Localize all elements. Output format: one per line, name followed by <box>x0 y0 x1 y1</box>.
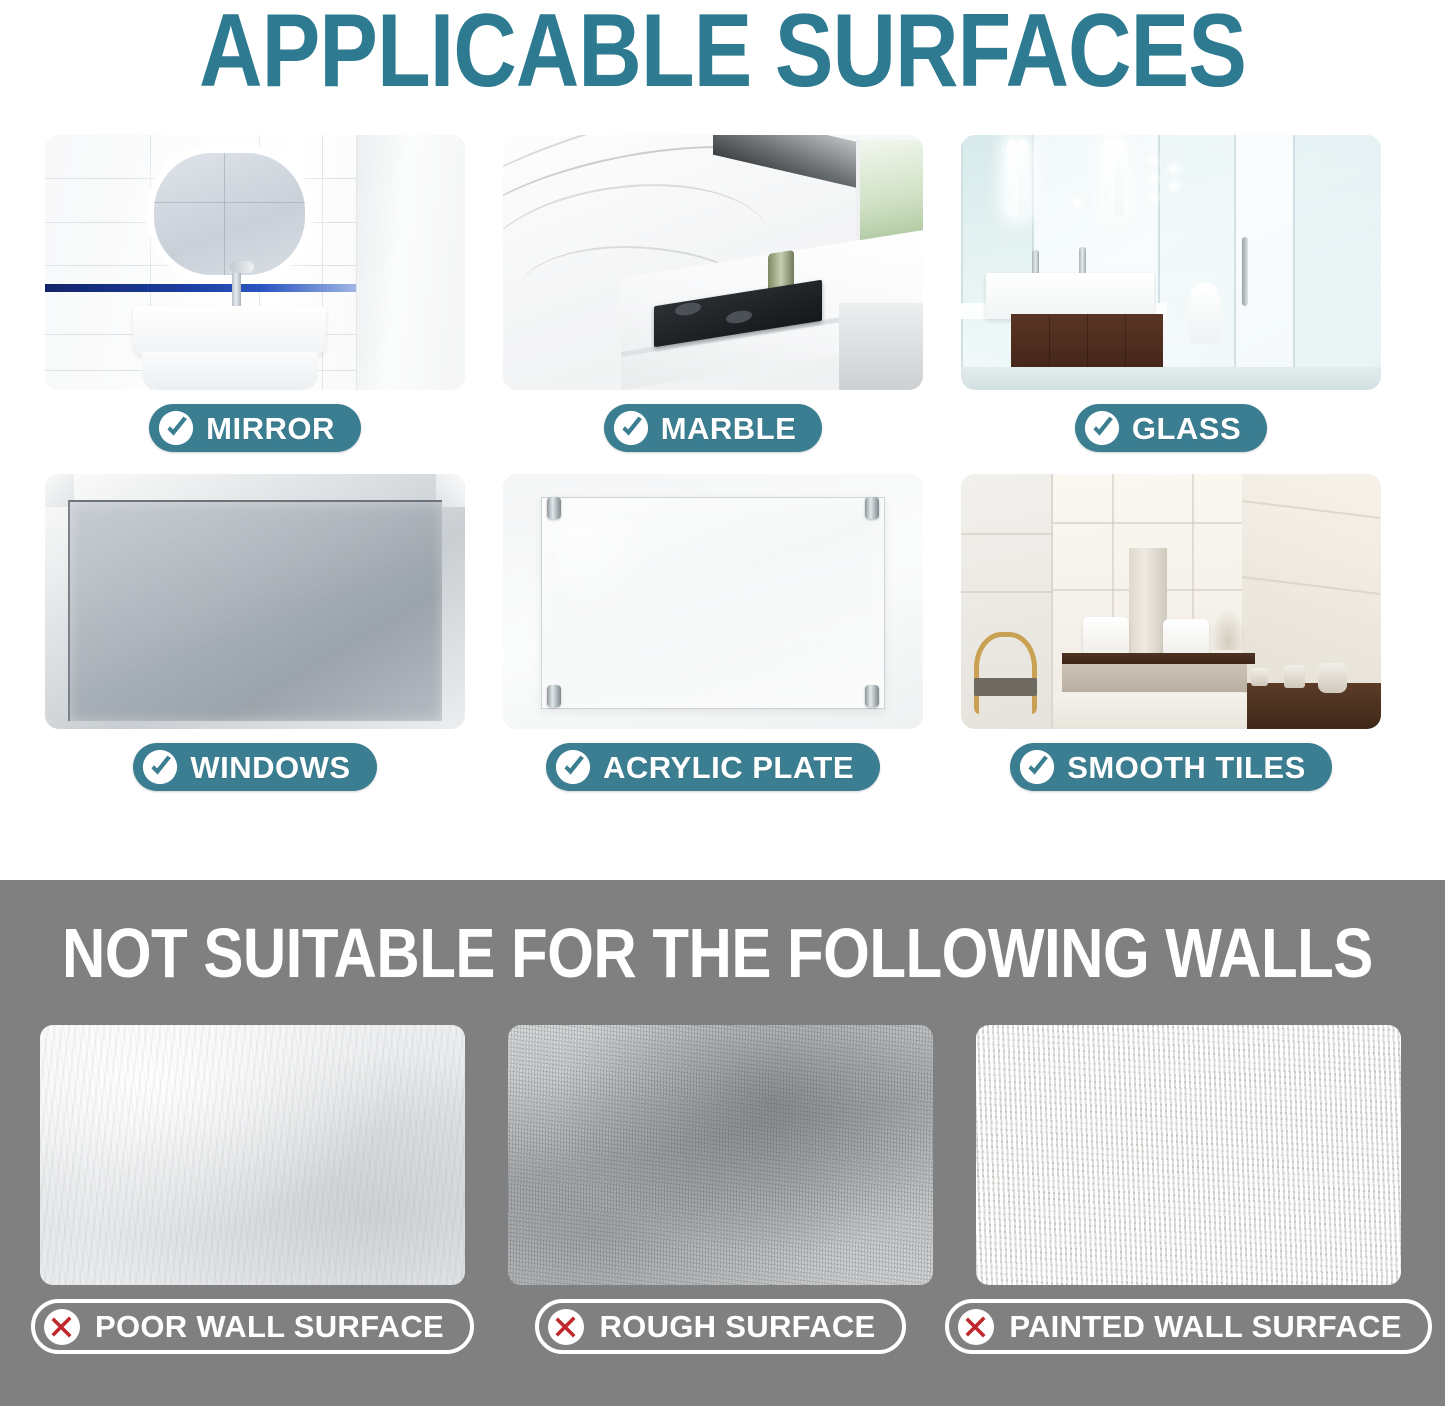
photo-window-frame <box>45 474 465 729</box>
unsuitable-card-rough-surface: ROUGH SURFACE <box>508 1025 933 1354</box>
badge-label: WINDOWS <box>190 752 350 783</box>
surface-card-marble: MARBLE <box>503 135 923 452</box>
x-circle-icon <box>546 1307 586 1347</box>
badge-label: POOR WALL SURFACE <box>95 1311 444 1342</box>
applicable-grid: MIRROR <box>45 135 1380 813</box>
x-circle-icon <box>956 1307 996 1347</box>
check-circle-icon <box>554 748 592 786</box>
surface-card-acrylic-plate: ACRYLIC PLATE <box>503 474 923 791</box>
not-suitable-section: NOT SUITABLE FOR THE FOLLOWING WALLS <box>0 880 1445 1406</box>
badge-label: MARBLE <box>661 413 797 444</box>
badge-smooth-tiles[interactable]: SMOOTH TILES <box>1010 743 1332 791</box>
badge-windows[interactable]: WINDOWS <box>133 743 376 791</box>
surface-card-mirror: MIRROR <box>45 135 465 452</box>
check-circle-icon <box>1083 409 1121 447</box>
surface-card-smooth-tiles: SMOOTH TILES <box>961 474 1381 791</box>
badge-label: ROUGH SURFACE <box>599 1311 875 1342</box>
badge-poor-wall-surface[interactable]: POOR WALL SURFACE <box>31 1299 474 1354</box>
badge-label: MIRROR <box>206 413 335 444</box>
surface-card-glass: GLASS <box>961 135 1381 452</box>
x-circle-icon <box>42 1307 82 1347</box>
unsuitable-card-poor-wall: POOR WALL SURFACE <box>40 1025 465 1354</box>
badge-mirror[interactable]: MIRROR <box>149 404 361 452</box>
check-circle-icon <box>612 409 650 447</box>
badge-painted-wall-surface[interactable]: PAINTED WALL SURFACE <box>945 1299 1431 1354</box>
texture-poor-wall-surface <box>40 1025 465 1285</box>
section-title: NOT SUITABLE FOR THE FOLLOWING WALLS <box>62 913 1373 993</box>
not-suitable-grid: POOR WALL SURFACE <box>40 1025 1401 1354</box>
photo-mirror-bathroom <box>45 135 465 390</box>
badge-label: GLASS <box>1132 413 1241 444</box>
photo-tiled-bathroom <box>961 474 1381 729</box>
check-circle-icon <box>141 748 179 786</box>
badge-marble[interactable]: MARBLE <box>604 404 823 452</box>
badge-label: ACRYLIC PLATE <box>603 752 854 783</box>
texture-painted-wall-surface <box>976 1025 1401 1285</box>
applicable-row-1: MIRROR <box>45 135 1380 452</box>
photo-acrylic-plate <box>503 474 923 729</box>
photo-glass-bathroom <box>961 135 1381 390</box>
page-title: APPLICABLE SURFACES <box>0 0 1445 107</box>
unsuitable-card-painted-wall: PAINTED WALL SURFACE <box>976 1025 1401 1354</box>
applicable-row-2: WINDOWS <box>45 474 1380 791</box>
surface-card-windows: WINDOWS <box>45 474 465 791</box>
check-circle-icon <box>157 409 195 447</box>
check-circle-icon <box>1018 748 1056 786</box>
badge-glass[interactable]: GLASS <box>1075 404 1267 452</box>
photo-marble-kitchen <box>503 135 923 390</box>
badge-acrylic-plate[interactable]: ACRYLIC PLATE <box>546 743 880 791</box>
badge-rough-surface[interactable]: ROUGH SURFACE <box>535 1299 905 1354</box>
badge-label: PAINTED WALL SURFACE <box>1009 1311 1401 1342</box>
badge-label: SMOOTH TILES <box>1067 752 1306 783</box>
texture-rough-surface <box>508 1025 933 1285</box>
applicable-surfaces-section: APPLICABLE SURFACES <box>0 0 1445 880</box>
infographic-page: APPLICABLE SURFACES <box>0 0 1445 1406</box>
